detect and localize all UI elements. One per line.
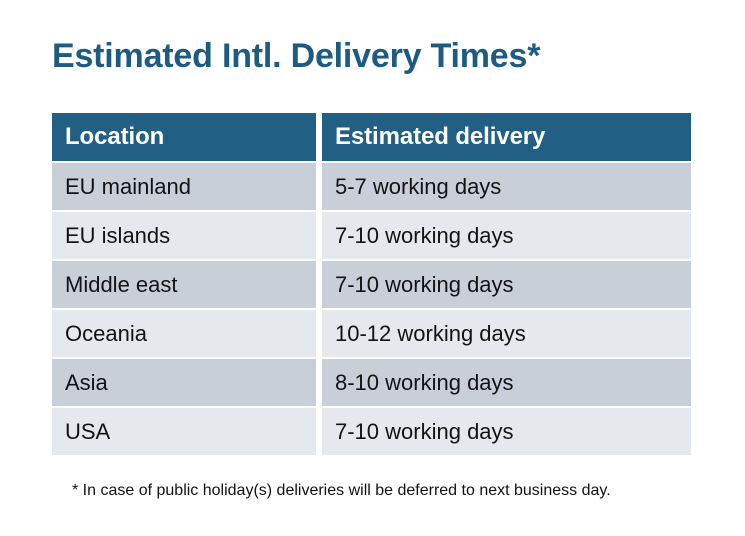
page-title: Estimated Intl. Delivery Times* — [52, 38, 540, 75]
column-header-delivery: Estimated delivery — [322, 113, 691, 163]
cell-location: EU mainland — [52, 163, 316, 212]
cell-delivery: 7-10 working days — [322, 408, 691, 455]
table-header: Location Estimated delivery — [52, 113, 691, 163]
footnote: * In case of public holiday(s) deliverie… — [72, 481, 611, 500]
cell-location: Oceania — [52, 310, 316, 359]
table-header-row: Location Estimated delivery — [52, 113, 691, 163]
table-row: EU mainland 5-7 working days — [52, 163, 691, 212]
delivery-times-table: Location Estimated delivery EU mainland … — [52, 113, 691, 455]
table-row: EU islands 7-10 working days — [52, 212, 691, 261]
cell-delivery: 10-12 working days — [322, 310, 691, 359]
cell-location: EU islands — [52, 212, 316, 261]
cell-delivery: 7-10 working days — [322, 261, 691, 310]
column-header-location: Location — [52, 113, 316, 163]
cell-location: Asia — [52, 359, 316, 408]
table-row: Oceania 10-12 working days — [52, 310, 691, 359]
table-body: EU mainland 5-7 working days EU islands … — [52, 163, 691, 455]
cell-delivery: 5-7 working days — [322, 163, 691, 212]
cell-location: USA — [52, 408, 316, 455]
table-row: Middle east 7-10 working days — [52, 261, 691, 310]
cell-location: Middle east — [52, 261, 316, 310]
delivery-times-card: Estimated Intl. Delivery Times* Location… — [0, 0, 745, 536]
cell-delivery: 7-10 working days — [322, 212, 691, 261]
cell-delivery: 8-10 working days — [322, 359, 691, 408]
table-row: USA 7-10 working days — [52, 408, 691, 455]
table-row: Asia 8-10 working days — [52, 359, 691, 408]
